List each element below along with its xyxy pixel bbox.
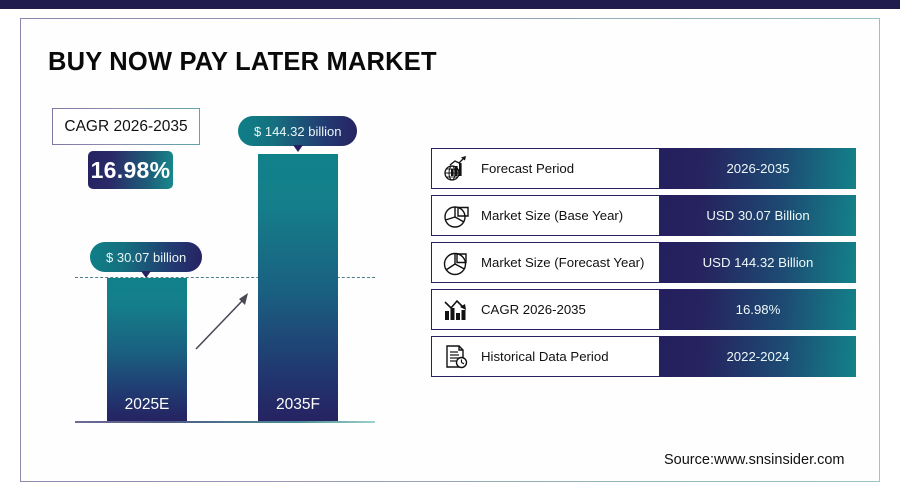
table-row-value-cell: 2022-2024 [660,336,856,377]
bar-chart-trend-icon [441,295,471,325]
chart-baseline-axis [75,421,375,423]
table-row: CAGR 2026-2035 16.98% [431,289,856,330]
table-row-label-cell: CAGR 2026-2035 [431,289,660,330]
table-row-value: 2022-2024 [726,349,789,364]
document-clock-icon [441,342,471,372]
table-row-label: Market Size (Forecast Year) [481,255,644,270]
table-row-label-cell: Forecast Period [431,148,660,189]
globe-growth-chart-icon [441,154,471,184]
table-row: Market Size (Base Year) USD 30.07 Billio… [431,195,856,236]
table-row-value-cell: 2026-2035 [660,148,856,189]
table-row-value-cell: USD 144.32 Billion [660,242,856,283]
table-row-value: USD 30.07 Billion [706,208,809,223]
bar-label-2035f: 2035F [258,396,338,414]
value-pill-2025e: $ 30.07 billion [90,242,202,272]
table-row-value: 16.98% [736,302,781,317]
value-pill-2035f-text: $ 144.32 billion [254,124,341,139]
pie-chart-exploded-icon [441,201,471,231]
metrics-table: Forecast Period 2026-2035 Market Size (B… [431,148,856,383]
table-row-label-cell: Market Size (Base Year) [431,195,660,236]
table-row: Market Size (Forecast Year) USD 144.32 B… [431,242,856,283]
table-row-value: 2026-2035 [726,161,789,176]
bar-chart: 2025E 2035F $ 30.07 billion $ 144.32 bil… [0,0,440,500]
growth-arrow-icon [190,285,260,355]
table-row-label: Market Size (Base Year) [481,208,623,223]
table-row-value-cell: 16.98% [660,289,856,330]
source-attribution: Source:www.snsinsider.com [664,452,845,468]
value-pill-2025e-text: $ 30.07 billion [106,250,186,265]
table-row-label: Forecast Period [481,161,574,176]
table-row: Forecast Period 2026-2035 [431,148,856,189]
pie-chart-three-slice-icon [441,248,471,278]
bar-2025e: 2025E [107,278,187,422]
table-row-value-cell: USD 30.07 Billion [660,195,856,236]
table-row-label: Historical Data Period [481,349,609,364]
table-row-label-cell: Historical Data Period [431,336,660,377]
table-row-value: USD 144.32 Billion [703,255,814,270]
bar-2035f: 2035F [258,154,338,422]
table-row: Historical Data Period 2022-2024 [431,336,856,377]
table-row-label-cell: Market Size (Forecast Year) [431,242,660,283]
table-row-label: CAGR 2026-2035 [481,302,586,317]
bar-label-2025e: 2025E [107,396,187,414]
value-pill-2035f: $ 144.32 billion [238,116,357,146]
